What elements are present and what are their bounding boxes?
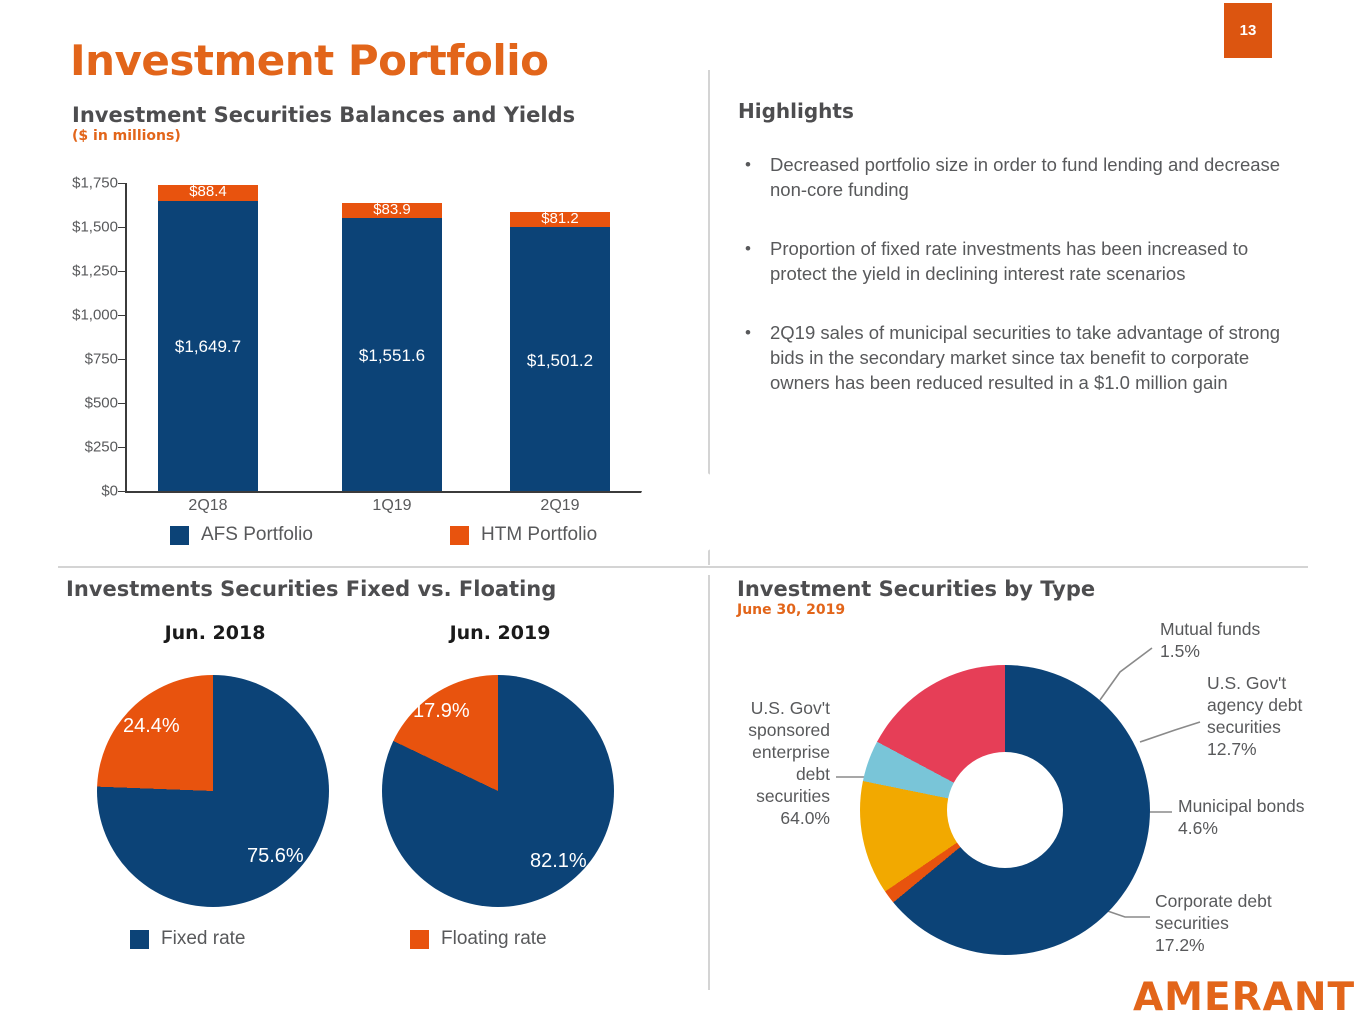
donut-2019-floating-label: 17.9% [413,700,470,723]
type-label-line: debt [700,763,830,785]
legend-swatch [130,930,149,949]
type-label-line: 4.6% [1178,817,1358,839]
type-label-mutual-funds: Mutual funds1.5% [1160,618,1340,662]
highlight-bullet-text: Proportion of fixed rate investments has… [770,236,1300,286]
type-label-line: Municipal bonds [1178,795,1358,817]
y-tick-label: $500 [85,395,118,412]
highlight-bullet: •2Q19 sales of municipal securities to t… [740,320,1300,395]
type-label-line: securities [1155,912,1335,934]
legend-swatch [410,930,429,949]
balances-bar-chart: $0$250$500$750$1,000$1,250$1,500$1,750 $… [40,175,660,505]
y-tick-mark [118,491,127,492]
by-type-subheading: June 30, 2019 [737,602,845,618]
x-axis-label: 2Q18 [138,497,278,515]
type-label-line: securities [1207,716,1347,738]
leader-line-mutual [1100,648,1152,700]
y-tick-mark [118,403,127,404]
bar-legend-item: AFS Portfolio [170,524,313,546]
type-label-line: agency debt [1207,694,1347,716]
leader-line-agency [1140,722,1200,742]
amerant-logo: AMERANT [1133,975,1355,1020]
type-label-corporate: Corporate debtsecurities17.2% [1155,890,1335,956]
slide-root: 13 Investment Portfolio Investment Secur… [0,0,1365,1024]
x-axis-label: 1Q19 [322,497,462,515]
y-tick-label: $250 [85,439,118,456]
bar-value-htm: $81.2 [510,210,610,227]
type-label-line: 64.0% [700,807,830,829]
y-tick-mark [118,183,127,184]
x-axis-label: 2Q19 [490,497,630,515]
legend-label: HTM Portfolio [481,524,597,546]
fixed-floating-legend-item: Floating rate [410,928,547,950]
highlight-bullet-text: 2Q19 sales of municipal securities to ta… [770,320,1300,395]
fixed-floating-legend-item: Fixed rate [130,928,245,950]
y-tick-mark [118,359,127,360]
legend-label: Fixed rate [161,928,245,950]
balances-heading: Investment Securities Balances and Yield… [72,103,575,127]
donut-2018-floating-label: 24.4% [123,715,180,738]
bullet-dot-icon: • [740,236,770,286]
fixed-floating-heading: Investments Securities Fixed vs. Floatin… [66,577,556,601]
bar-value-afs: $1,551.6 [342,346,442,366]
type-label-line: 1.5% [1160,640,1340,662]
highlight-bullet-text: Decreased portfolio size in order to fun… [770,152,1300,202]
balances-subheading: ($ in millions) [72,128,181,144]
highlights-heading: Highlights [738,99,854,123]
highlights-list: •Decreased portfolio size in order to fu… [740,152,1300,429]
page-number-badge: 13 [1224,3,1272,58]
x-axis-line [125,491,648,493]
donut-2019-fixed-label: 82.1% [530,850,587,873]
y-tick-label: $0 [101,483,118,500]
bullet-dot-icon: • [740,320,770,395]
y-tick-mark [118,315,127,316]
by-type-donut-hole [947,752,1063,868]
y-tick-label: $1,000 [72,307,118,324]
type-label-line: U.S. Gov't [1207,672,1347,694]
type-label-line: 17.2% [1155,934,1335,956]
type-label-line: Mutual funds [1160,618,1340,640]
type-label-line: U.S. Gov't [700,697,830,719]
y-tick-label: $1,750 [72,175,118,192]
bar-value-afs: $1,649.7 [158,337,258,357]
by-type-heading: Investment Securities by Type [737,577,1095,601]
bullet-dot-icon: • [740,152,770,202]
fixed-floating-legend: Fixed rateFloating rate [130,928,610,958]
divider-horizontal [58,566,1308,568]
type-label-line: 12.7% [1207,738,1347,760]
bar-chart-legend: AFS PortfolioHTM Portfolio [170,524,640,554]
donut-chart-jun-2018 [97,675,329,907]
bar-value-htm: $83.9 [342,201,442,218]
type-label-municipal: Municipal bonds4.6% [1178,795,1358,839]
y-tick-label: $1,250 [72,263,118,280]
donut-title-jun-2018: Jun. 2018 [115,622,315,644]
y-tick-mark [118,227,127,228]
bar-value-afs: $1,501.2 [510,351,610,371]
page-title: Investment Portfolio [70,36,549,85]
type-label-agency: U.S. Gov'tagency debtsecurities12.7% [1207,672,1347,760]
type-label-line: sponsored [700,719,830,741]
legend-label: AFS Portfolio [201,524,313,546]
y-tick-label: $1,500 [72,219,118,236]
type-label-line: securities [700,785,830,807]
donut-2018-fixed-label: 75.6% [247,845,304,868]
legend-label: Floating rate [441,928,547,950]
bar-legend-item: HTM Portfolio [450,524,597,546]
bar-value-htm: $88.4 [158,183,258,200]
type-label-gse: U.S. Gov'tsponsoredenterprisedebtsecurit… [700,697,830,829]
type-label-line: Corporate debt [1155,890,1335,912]
legend-swatch [170,526,189,545]
y-tick-mark [118,447,127,448]
y-tick-label: $750 [85,351,118,368]
highlight-bullet: •Decreased portfolio size in order to fu… [740,152,1300,202]
by-type-donut-chart [860,665,1150,955]
donut-title-jun-2019: Jun. 2019 [400,622,600,644]
legend-swatch [450,526,469,545]
y-tick-mark [118,271,127,272]
highlight-bullet: •Proportion of fixed rate investments ha… [740,236,1300,286]
type-label-line: enterprise [700,741,830,763]
